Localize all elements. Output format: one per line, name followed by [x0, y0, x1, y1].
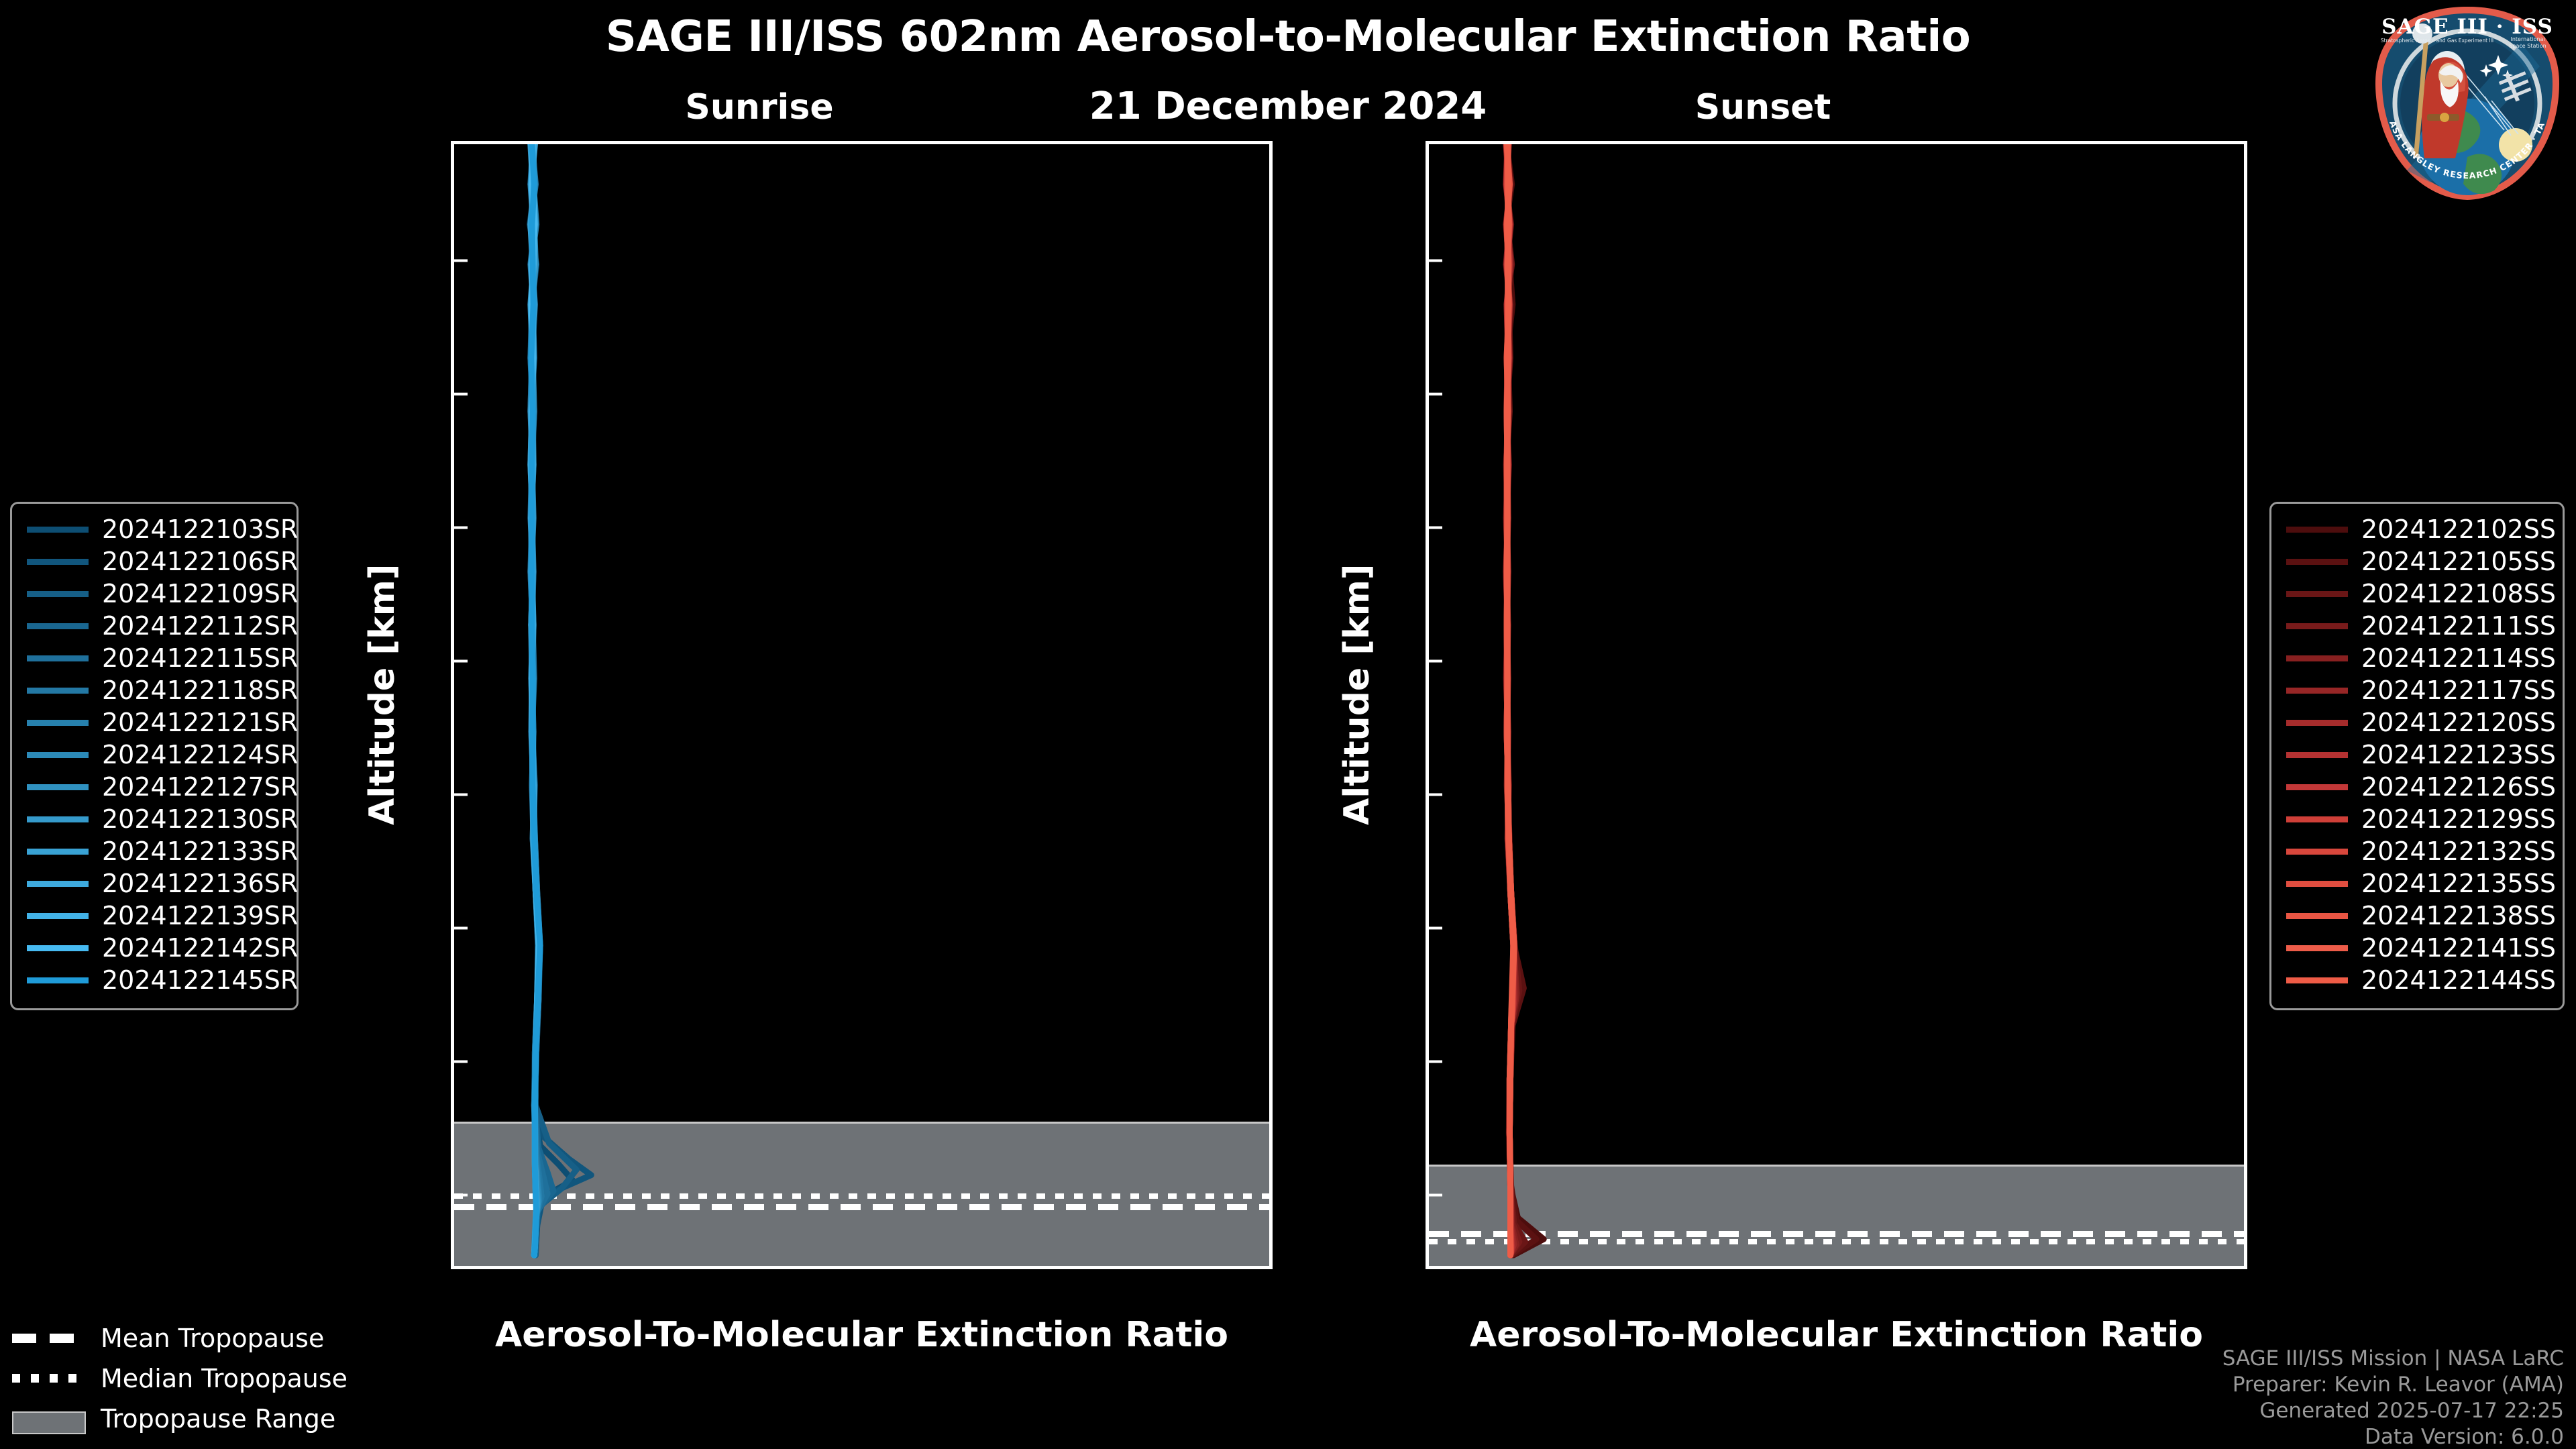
legend-color-swatch: [27, 945, 89, 951]
x-axis-tick-mark: [2243, 1266, 2245, 1269]
legend-item[interactable]: 2024122132SS: [2286, 835, 2548, 867]
y-axis-tick-mark: [454, 527, 468, 529]
figure-root: SAGE III/ISS 602nm Aerosol-to-Molecular …: [0, 0, 2576, 1449]
x-axis-tick-mark: [1120, 1266, 1122, 1269]
series-line: [531, 144, 540, 1255]
legend-item-label: 2024122127SR: [102, 772, 298, 802]
legend-color-swatch: [27, 913, 89, 919]
x-axis-tick-label: 100: [1237, 1266, 1273, 1269]
y-axis-tick-mark: [454, 1194, 468, 1197]
legend-item[interactable]: 2024122130SR: [27, 803, 282, 835]
y-axis-tick-label: 50: [1426, 141, 1429, 162]
legend-sunrise[interactable]: 2024122103SR2024122106SR2024122109SR2024…: [10, 502, 299, 1010]
x-axis-tick-label: 20: [655, 1266, 698, 1269]
legend-item[interactable]: 2024122114SS: [2286, 642, 2548, 674]
legend-item-label: 2024122114SS: [2361, 643, 2556, 673]
legend-item-label: 2024122108SS: [2361, 579, 2556, 608]
y-axis-tick-mark: [454, 794, 468, 796]
plot-sunrise[interactable]: 101520253035404550020406080100: [451, 141, 1273, 1269]
legend-item[interactable]: 2024122123SS: [2286, 739, 2548, 771]
y-axis-label-sunset: Altitude [km]: [1337, 563, 1377, 825]
tropopause-legend-label: Median Tropopause: [101, 1364, 347, 1393]
legend-color-swatch: [27, 527, 89, 533]
legend-color-swatch: [2286, 720, 2348, 726]
y-axis-label-sunrise: Altitude [km]: [362, 563, 402, 825]
legend-item-label: 2024122117SS: [2361, 676, 2556, 705]
legend-item[interactable]: 2024122133SR: [27, 835, 282, 867]
legend-color-swatch: [27, 977, 89, 983]
y-axis-tick-label: 50: [451, 141, 454, 162]
x-axis-label-sunrise: Aerosol-To-Molecular Extinction Ratio: [451, 1315, 1273, 1355]
legend-item[interactable]: 2024122129SS: [2286, 803, 2548, 835]
legend-item-label: 2024122135SS: [2361, 869, 2556, 898]
legend-item[interactable]: 2024122111SS: [2286, 610, 2548, 642]
legend-item[interactable]: 2024122102SS: [2286, 513, 2548, 545]
tropopause-range-swatch: [12, 1411, 86, 1426]
legend-item-label: 2024122109SR: [102, 579, 298, 608]
x-axis-tick-mark: [1501, 1266, 1504, 1269]
legend-item-label: 2024122145SR: [102, 965, 298, 995]
legend-color-swatch: [2286, 655, 2348, 661]
y-axis-tick-label: 35: [451, 528, 454, 562]
x-axis-tick-label: 60: [1926, 1266, 1969, 1269]
x-axis-tick-mark: [1798, 1266, 1801, 1269]
legend-color-swatch: [2286, 977, 2348, 983]
legend-item-label: 2024122123SS: [2361, 740, 2556, 769]
svg-text:International: International: [2510, 36, 2544, 42]
legend-item[interactable]: 2024122145SR: [27, 964, 282, 996]
legend-item-label: 2024122130SR: [102, 804, 298, 834]
legend-item-label: 2024122120SS: [2361, 708, 2556, 737]
panel-title-sunset: Sunset: [1656, 87, 1870, 127]
legend-color-swatch: [2286, 784, 2348, 790]
legend-color-swatch: [2286, 688, 2348, 694]
y-axis-tick-label: 20: [451, 928, 454, 963]
panel-title-sunrise: Sunrise: [652, 87, 867, 127]
y-axis-tick-label: 35: [1426, 528, 1429, 562]
x-axis-tick-label: 60: [951, 1266, 994, 1269]
y-axis-tick-label: 40: [1426, 394, 1429, 429]
y-axis-tick-label: 15: [1426, 1062, 1429, 1096]
legend-item-label: 2024122132SS: [2361, 837, 2556, 866]
svg-text:SAGE III · ISS: SAGE III · ISS: [2381, 15, 2553, 39]
y-axis-tick-mark: [1429, 1194, 1442, 1197]
legend-item-label: 2024122118SR: [102, 676, 298, 705]
legend-item-label: 2024122102SS: [2361, 515, 2556, 544]
y-axis-tick-label: 10: [1426, 1195, 1429, 1230]
y-axis-tick-mark: [1429, 660, 1442, 663]
tropopause-legend: Mean TropopauseMedian TropopauseTropopau…: [12, 1318, 347, 1439]
legend-item[interactable]: 2024122106SR: [27, 545, 282, 578]
legend-item[interactable]: 2024122141SS: [2286, 932, 2548, 964]
y-axis-tick-label: 15: [451, 1062, 454, 1096]
legend-item[interactable]: 2024122135SS: [2286, 867, 2548, 900]
plot-sunset[interactable]: 101520253035404550020406080100: [1426, 141, 2247, 1269]
legend-color-swatch: [27, 881, 89, 887]
legend-item[interactable]: 2024122109SR: [27, 578, 282, 610]
attribution-version: Data Version: 6.0.0: [2222, 1424, 2564, 1449]
legend-item-label: 2024122115SR: [102, 643, 298, 673]
x-axis-tick-label: 0: [1492, 1266, 1513, 1269]
legend-sunset[interactable]: 2024122102SS2024122105SS2024122108SS2024…: [2269, 502, 2565, 1010]
legend-item-label: 2024122111SS: [2361, 611, 2556, 641]
page-title: SAGE III/ISS 602nm Aerosol-to-Molecular …: [0, 12, 2576, 62]
legend-item-label: 2024122121SR: [102, 708, 298, 737]
legend-color-swatch: [2286, 816, 2348, 822]
x-axis-tick-mark: [971, 1266, 974, 1269]
svg-text:Space Station: Space Station: [2509, 43, 2546, 49]
legend-item[interactable]: 2024122126SS: [2286, 771, 2548, 803]
y-axis-tick-label: 40: [451, 394, 454, 429]
series-layer: [454, 144, 1269, 1266]
y-axis-tick-label: 25: [451, 795, 454, 829]
legend-item[interactable]: 2024122127SR: [27, 771, 282, 803]
legend-item[interactable]: 2024122117SS: [2286, 674, 2548, 706]
y-axis-tick-mark: [1429, 1061, 1442, 1063]
y-axis-tick-label: 30: [1426, 661, 1429, 696]
x-axis-tick-label: 80: [1099, 1266, 1142, 1269]
y-axis-tick-label: 10: [451, 1195, 454, 1230]
legend-item-label: 2024122136SR: [102, 869, 298, 898]
legend-color-swatch: [27, 849, 89, 855]
x-axis-tick-label: 80: [2074, 1266, 2117, 1269]
y-axis-tick-label: 20: [1426, 928, 1429, 963]
legend-color-swatch: [27, 559, 89, 565]
legend-color-swatch: [2286, 913, 2348, 919]
y-axis-tick-label: 25: [1426, 795, 1429, 829]
series-line: [531, 144, 592, 1255]
x-axis-tick-mark: [1268, 1266, 1271, 1269]
legend-item[interactable]: 2024122112SR: [27, 610, 282, 642]
y-axis-tick-mark: [454, 660, 468, 663]
legend-color-swatch: [27, 752, 89, 758]
legend-item[interactable]: 2024122108SS: [2286, 578, 2548, 610]
legend-color-swatch: [27, 688, 89, 694]
legend-color-swatch: [2286, 881, 2348, 887]
y-axis-tick-mark: [1429, 260, 1442, 262]
legend-item-label: 2024122141SS: [2361, 933, 2556, 963]
x-axis-tick-mark: [675, 1266, 678, 1269]
y-axis-tick-label: 45: [451, 261, 454, 295]
tropopause-legend-item: Mean Tropopause: [12, 1318, 347, 1358]
date-subtitle: 21 December 2024: [0, 85, 2576, 128]
y-axis-tick-label: 45: [1426, 261, 1429, 295]
tropopause-legend-item: Median Tropopause: [12, 1358, 347, 1399]
legend-item[interactable]: 2024122124SR: [27, 739, 282, 771]
legend-color-swatch: [27, 591, 89, 597]
attribution-block: SAGE III/ISS Mission | NASA LaRC Prepare…: [2222, 1346, 2564, 1449]
legend-color-swatch: [2286, 752, 2348, 758]
legend-item[interactable]: 2024122120SS: [2286, 706, 2548, 739]
legend-item-label: 2024122106SR: [102, 547, 298, 576]
legend-item[interactable]: 2024122118SR: [27, 674, 282, 706]
y-axis-tick-mark: [454, 393, 468, 396]
legend-color-swatch: [2286, 623, 2348, 629]
attribution-mission: SAGE III/ISS Mission | NASA LaRC: [2222, 1346, 2564, 1372]
legend-item-label: 2024122138SS: [2361, 901, 2556, 930]
x-axis-tick-label: 20: [1629, 1266, 1672, 1269]
y-axis-tick-mark: [454, 1061, 468, 1063]
legend-color-swatch: [2286, 945, 2348, 951]
x-axis-tick-label: 100: [2212, 1266, 2247, 1269]
legend-item[interactable]: 2024122138SS: [2286, 900, 2548, 932]
legend-color-swatch: [27, 623, 89, 629]
x-axis-tick-mark: [1650, 1266, 1652, 1269]
legend-item[interactable]: 2024122115SR: [27, 642, 282, 674]
legend-item[interactable]: 2024122121SR: [27, 706, 282, 739]
legend-item-label: 2024122112SR: [102, 611, 298, 641]
x-axis-tick-mark: [1946, 1266, 1949, 1269]
legend-item[interactable]: 2024122142SR: [27, 932, 282, 964]
y-axis-tick-mark: [454, 260, 468, 262]
legend-item[interactable]: 2024122139SR: [27, 900, 282, 932]
y-axis-tick-mark: [1429, 393, 1442, 396]
legend-color-swatch: [27, 655, 89, 661]
x-axis-tick-mark: [527, 1266, 529, 1269]
legend-item[interactable]: 2024122136SR: [27, 867, 282, 900]
legend-item-label: 2024122144SS: [2361, 965, 2556, 995]
legend-color-swatch: [27, 816, 89, 822]
y-axis-tick-label: 30: [451, 661, 454, 696]
legend-item-label: 2024122129SS: [2361, 804, 2556, 834]
legend-item-label: 2024122142SR: [102, 933, 298, 963]
legend-color-swatch: [27, 784, 89, 790]
legend-item[interactable]: 2024122105SS: [2286, 545, 2548, 578]
x-axis-tick-label: 0: [517, 1266, 539, 1269]
svg-text:Stratospheric Aerosol and Gas: Stratospheric Aerosol and Gas Experiment…: [2381, 38, 2493, 44]
x-axis-tick-mark: [2094, 1266, 2097, 1269]
legend-color-swatch: [2286, 527, 2348, 533]
legend-item[interactable]: 2024122103SR: [27, 513, 282, 545]
x-axis-tick-mark: [823, 1266, 826, 1269]
legend-item-label: 2024122126SS: [2361, 772, 2556, 802]
legend-item-label: 2024122124SR: [102, 740, 298, 769]
legend-item[interactable]: 2024122144SS: [2286, 964, 2548, 996]
legend-color-swatch: [2286, 849, 2348, 855]
median-tropopause-swatch: [12, 1371, 86, 1386]
tropopause-legend-item: Tropopause Range: [12, 1399, 347, 1439]
sage-iii-iss-logo-icon: SAGE III · ISS Stratospheric Aerosol and…: [2367, 3, 2568, 204]
attribution-preparer: Preparer: Kevin R. Leavor (AMA): [2222, 1372, 2564, 1398]
tropopause-legend-label: Tropopause Range: [101, 1404, 335, 1434]
series-layer: [1429, 144, 2244, 1266]
legend-item-label: 2024122103SR: [102, 515, 298, 544]
legend-color-swatch: [2286, 591, 2348, 597]
legend-color-swatch: [2286, 559, 2348, 565]
attribution-generated: Generated 2025-07-17 22:25: [2222, 1398, 2564, 1424]
legend-item-label: 2024122139SR: [102, 901, 298, 930]
y-axis-tick-mark: [1429, 527, 1442, 529]
mean-tropopause-swatch: [12, 1331, 86, 1346]
y-axis-tick-mark: [1429, 927, 1442, 930]
x-axis-tick-label: 40: [803, 1266, 846, 1269]
legend-item-label: 2024122133SR: [102, 837, 298, 866]
legend-item-label: 2024122105SS: [2361, 547, 2556, 576]
x-axis-label-sunset: Aerosol-To-Molecular Extinction Ratio: [1426, 1315, 2247, 1355]
y-axis-tick-mark: [454, 927, 468, 930]
y-axis-tick-mark: [1429, 794, 1442, 796]
tropopause-legend-label: Mean Tropopause: [101, 1324, 324, 1353]
x-axis-tick-label: 40: [1778, 1266, 1821, 1269]
legend-color-swatch: [27, 720, 89, 726]
